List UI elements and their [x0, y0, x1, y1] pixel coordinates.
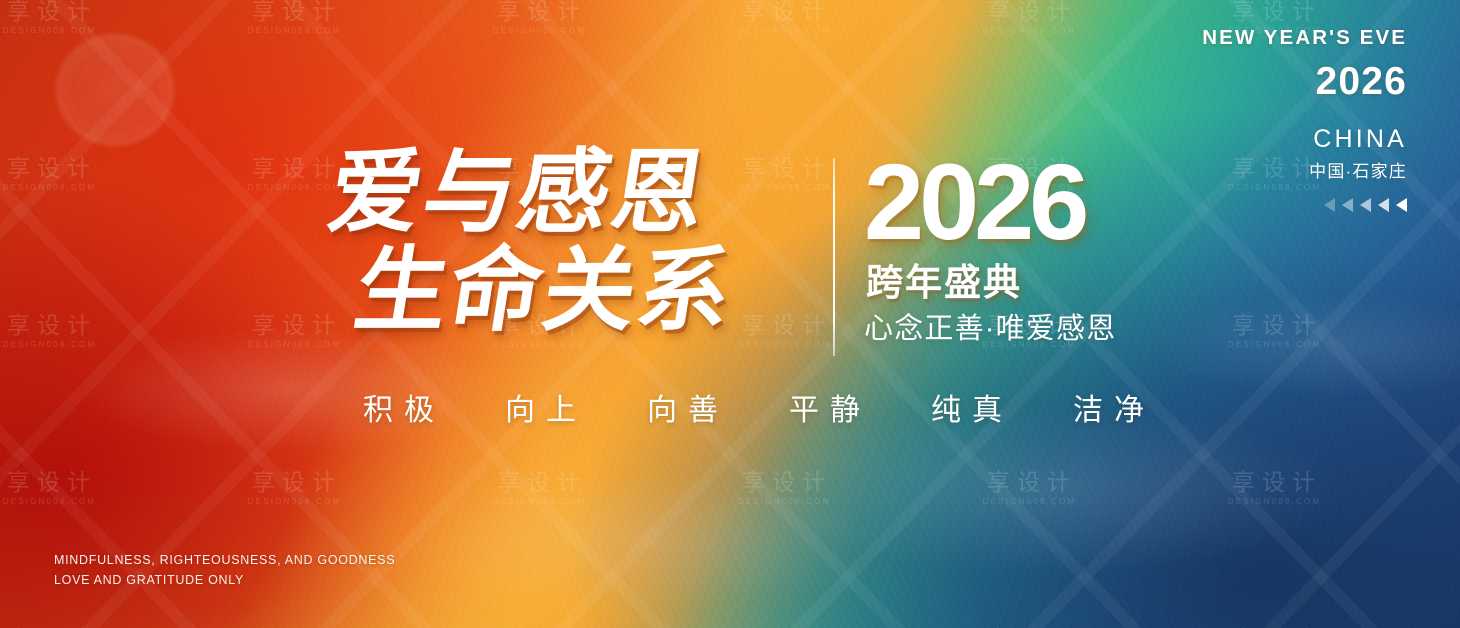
virtue-item: 洁净 — [1062, 396, 1155, 426]
country-label: CHINA — [1202, 127, 1407, 152]
footer-english-text: MINDFULNESS, RIGHTEOUSNESS, AND GOODNESS… — [54, 550, 395, 591]
headline-line-2: 生命关系 — [349, 246, 739, 336]
corner-info-block: NEW YEAR'S EVE 2026 CHINA 中国·石家庄 — [1202, 28, 1407, 212]
virtue-item: 向上 — [494, 396, 587, 426]
poster-canvas: 享设计DESIGN008.COM享设计DESIGN008.COM享设计DESIG… — [0, 0, 1460, 628]
corner-year: 2026 — [1202, 62, 1407, 101]
virtue-item: 积极 — [352, 396, 445, 426]
triangle-left-icon — [1396, 198, 1407, 212]
triangle-left-icon — [1342, 198, 1353, 212]
city-label: 中国·石家庄 — [1202, 163, 1407, 180]
triangle-left-icon — [1378, 198, 1389, 212]
virtue-item: 平静 — [778, 396, 871, 426]
virtue-item: 向善 — [636, 396, 729, 426]
arrow-decoration-row — [1202, 198, 1407, 212]
virtues-row: 积极向上向善平静纯真洁净 — [352, 396, 1155, 426]
main-headline: 爱与感恩 生命关系 — [330, 148, 732, 336]
footer-line-1: MINDFULNESS, RIGHTEOUSNESS, AND GOODNESS — [54, 550, 395, 570]
poster-content: NEW YEAR'S EVE 2026 CHINA 中国·石家庄 爱与感恩 生命… — [0, 0, 1460, 628]
new-years-eve-label: NEW YEAR'S EVE — [1202, 28, 1407, 49]
headline-line-1: 爱与感恩 — [323, 148, 739, 238]
vertical-divider — [833, 158, 835, 356]
right-headline-block: 2026 跨年盛典 心念正善·唯爱感恩 — [864, 148, 1116, 344]
virtue-item: 纯真 — [920, 396, 1013, 426]
triangle-left-icon — [1324, 198, 1335, 212]
triangle-left-icon — [1360, 198, 1371, 212]
footer-line-2: LOVE AND GRATITUDE ONLY — [54, 570, 395, 590]
gala-title: 跨年盛典 — [866, 264, 1116, 301]
motto-text: 心念正善·唯爱感恩 — [864, 315, 1116, 344]
big-year-number: 2026 — [864, 148, 1116, 256]
